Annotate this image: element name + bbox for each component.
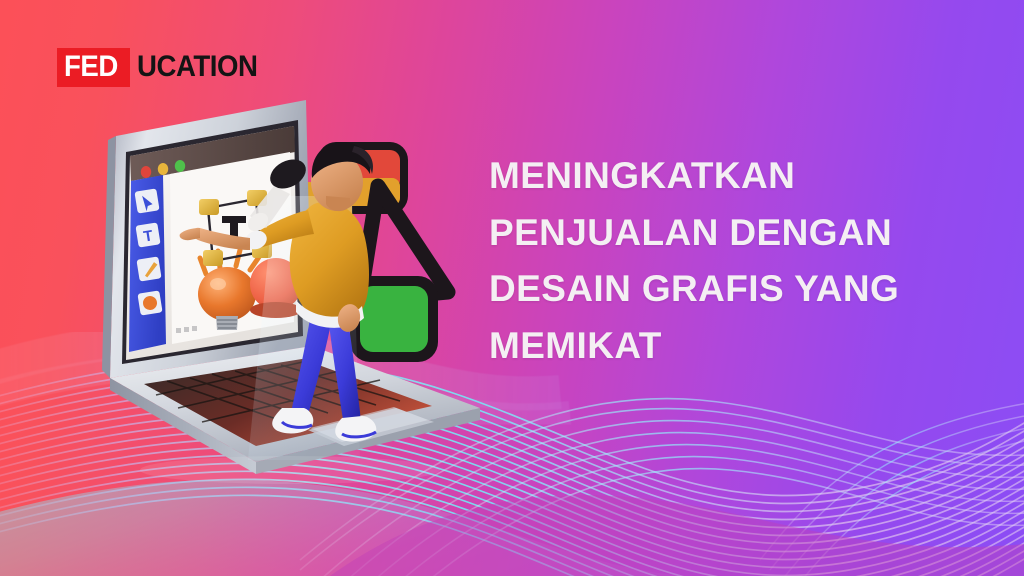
poster-canvas: FED UCATION MENINGKATKAN PENJUALAN DENGA…	[0, 0, 1024, 576]
page-title: MENINGKATKAN PENJUALAN DENGAN DESAIN GRA…	[489, 148, 969, 374]
logo-mark-text: FED	[64, 52, 118, 82]
headline-line-4: MEMIKAT	[489, 318, 969, 375]
ground-glow	[140, 456, 440, 484]
window-minimize-dot-icon[interactable]	[158, 163, 168, 175]
laptop-illustration: T	[60, 78, 500, 498]
headline-line-3: DESAIN GRAFIS YANG	[489, 261, 969, 318]
window-maximize-dot-icon[interactable]	[175, 160, 185, 172]
headline-line-2: PENJUALAN DENGAN	[489, 205, 969, 262]
window-close-dot-icon[interactable]	[141, 166, 151, 178]
pen-tool-icon[interactable]	[136, 256, 161, 281]
headline-line-1: MENINGKATKAN	[489, 148, 969, 205]
